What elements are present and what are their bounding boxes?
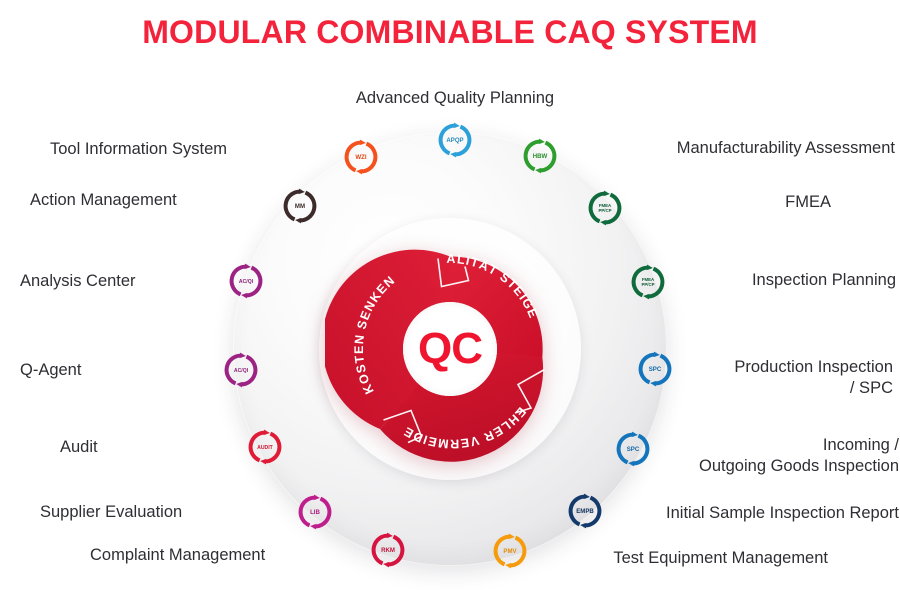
label-advanced-quality-planning: Advanced Quality Planning: [310, 88, 600, 109]
qc-hub: QC: [403, 302, 497, 396]
badge-test-equipment-management[interactable]: PMV: [491, 532, 529, 570]
svg-text:FMEAPP/CP: FMEAPP/CP: [641, 277, 655, 287]
label-supplier-evaluation: Supplier Evaluation: [40, 502, 285, 523]
label-manufacturability-assessment: Manufacturability Assessment: [565, 138, 895, 159]
label-inspection-planning: Inspection Planning: [676, 270, 896, 291]
label-tool-information-system: Tool Information System: [50, 139, 318, 160]
badge-audit[interactable]: AUDIT: [246, 428, 284, 466]
badge-inspection-planning[interactable]: FMEAPP/CP: [629, 263, 667, 301]
label-fmea: FMEA: [631, 192, 831, 213]
svg-text:HBW: HBW: [533, 153, 548, 160]
page-title: MODULAR COMBINABLE CAQ SYSTEM: [0, 14, 900, 51]
svg-text:LIB: LIB: [310, 509, 320, 516]
label-q-agent: Q-Agent: [20, 360, 210, 381]
svg-text:AC/QI: AC/QI: [239, 279, 254, 285]
badge-incoming-outgoing-goods[interactable]: SPC: [614, 430, 652, 468]
svg-text:RKM: RKM: [381, 547, 395, 554]
badge-tool-information-system[interactable]: WZI: [342, 138, 380, 176]
badge-initial-sample-inspection-report[interactable]: EMPB: [566, 492, 604, 530]
caq-system-diagram: MODULAR COMBINABLE CAQ SYSTEM: [0, 0, 900, 590]
label-analysis-center: Analysis Center: [20, 271, 216, 292]
label-complaint-management: Complaint Management: [90, 545, 358, 566]
svg-text:WZI: WZI: [355, 154, 366, 161]
badge-q-agent[interactable]: AC/QI: [222, 351, 260, 389]
badge-action-management[interactable]: MM: [281, 187, 319, 225]
svg-text:PMV: PMV: [503, 548, 517, 555]
badge-analysis-center[interactable]: AC/QI: [227, 262, 265, 300]
svg-text:AUDIT: AUDIT: [257, 445, 274, 451]
svg-text:EMPB: EMPB: [576, 508, 594, 515]
label-action-management: Action Management: [30, 190, 260, 211]
svg-text:AC/QI: AC/QI: [234, 368, 249, 374]
label-incoming-outgoing-goods: Incoming / Outgoing Goods Inspection: [661, 435, 899, 477]
badge-advanced-quality-planning[interactable]: APQP: [436, 121, 474, 159]
label-initial-sample-inspection-report: Initial Sample Inspection Report: [614, 503, 899, 524]
badge-supplier-evaluation[interactable]: LIB: [296, 493, 334, 531]
svg-text:MM: MM: [295, 203, 305, 210]
badge-complaint-management[interactable]: RKM: [369, 531, 407, 569]
label-production-inspection-spc: Production Inspection / SPC: [683, 357, 893, 399]
label-test-equipment-management: Test Equipment Management: [538, 548, 828, 569]
badge-fmea[interactable]: FMEAPP/CP: [586, 189, 624, 227]
svg-text:APQP: APQP: [446, 137, 463, 144]
svg-text:FMEAPP/CP: FMEAPP/CP: [598, 203, 612, 213]
badge-manufacturability-assessment[interactable]: HBW: [521, 137, 559, 175]
label-audit: Audit: [60, 437, 235, 458]
badge-production-inspection-spc[interactable]: SPC: [636, 350, 674, 388]
svg-text:SPC: SPC: [649, 366, 662, 373]
qc-hub-label: QC: [418, 327, 482, 371]
svg-text:SPC: SPC: [627, 446, 640, 453]
